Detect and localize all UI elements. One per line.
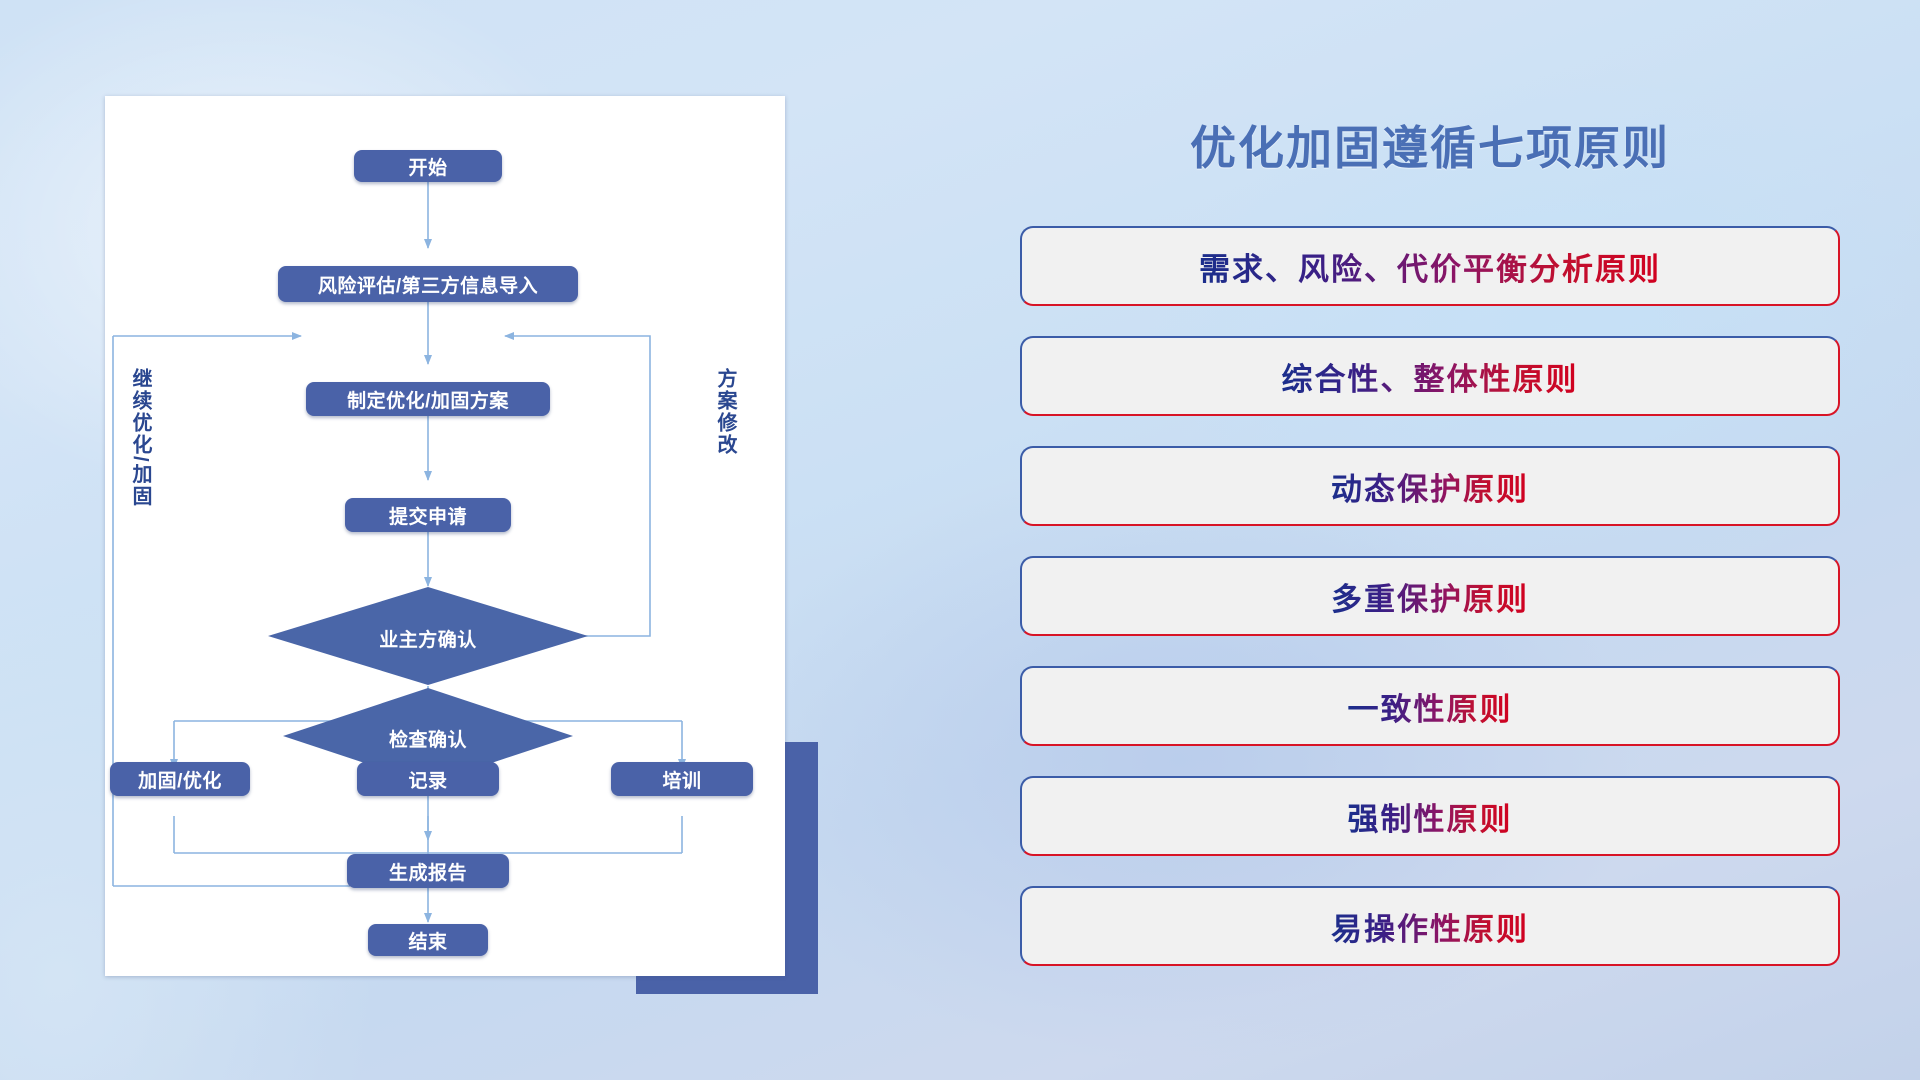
flowchart-card: 开始 风险评估/第三方信息导入 制定优化/加固方案 提交申请 业主方确认 加固/… — [105, 96, 785, 976]
node-submit-application[interactable]: 提交申请 — [345, 498, 511, 532]
node-make-plan-label: 制定优化/加固方案 — [347, 386, 509, 413]
principle-card-5-label: 一致性原则 — [1348, 684, 1513, 729]
principle-card-7-label: 易操作性原则 — [1331, 904, 1529, 949]
principle-card-4[interactable]: 多重保护原则 — [1020, 556, 1840, 636]
principle-card-2[interactable]: 综合性、整体性原则 — [1020, 336, 1840, 416]
principle-card-3[interactable]: 动态保护原则 — [1020, 446, 1840, 526]
principle-card-2-label: 综合性、整体性原则 — [1282, 354, 1579, 399]
flowchart-connectors — [105, 96, 785, 976]
principle-card-6-label: 强制性原则 — [1348, 794, 1513, 839]
principle-card-7[interactable]: 易操作性原则 — [1020, 886, 1840, 966]
principle-card-1-label: 需求、风险、代价平衡分析原则 — [1199, 244, 1661, 289]
node-training[interactable]: 培训 — [611, 762, 753, 796]
node-training-label: 培训 — [662, 766, 701, 793]
node-record-label: 记录 — [408, 766, 447, 793]
node-record[interactable]: 记录 — [357, 762, 499, 796]
panel-title: 优化加固遵循七项原则 — [1020, 112, 1840, 178]
node-reinforce-optimize-label: 加固/优化 — [138, 766, 222, 793]
node-generate-report[interactable]: 生成报告 — [347, 854, 509, 888]
edge-label-continue-optimize: 继续优化/加固 — [129, 368, 150, 508]
principle-card-6[interactable]: 强制性原则 — [1020, 776, 1840, 856]
edge-label-plan-revision: 方案修改 — [714, 368, 735, 456]
node-generate-report-label: 生成报告 — [389, 858, 467, 885]
principle-card-3-label: 动态保护原则 — [1331, 464, 1529, 509]
node-make-plan[interactable]: 制定优化/加固方案 — [306, 382, 550, 416]
principle-card-5[interactable]: 一致性原则 — [1020, 666, 1840, 746]
node-start[interactable]: 开始 — [354, 150, 502, 182]
node-risk-assessment[interactable]: 风险评估/第三方信息导入 — [278, 266, 578, 302]
node-submit-application-label: 提交申请 — [389, 502, 467, 529]
principle-card-1[interactable]: 需求、风险、代价平衡分析原则 — [1020, 226, 1840, 306]
node-risk-assessment-label: 风险评估/第三方信息导入 — [318, 271, 538, 298]
node-end[interactable]: 结束 — [368, 924, 488, 956]
node-start-label: 开始 — [408, 153, 447, 180]
node-reinforce-optimize[interactable]: 加固/优化 — [110, 762, 250, 796]
principle-card-4-label: 多重保护原则 — [1331, 574, 1529, 619]
node-end-label: 结束 — [408, 927, 447, 954]
principles-panel: 优化加固遵循七项原则 需求、风险、代价平衡分析原则 综合性、整体性原则 动态保护… — [1020, 96, 1840, 1016]
principles-card-list: 需求、风险、代价平衡分析原则 综合性、整体性原则 动态保护原则 多重保护原则 一… — [1020, 226, 1840, 996]
